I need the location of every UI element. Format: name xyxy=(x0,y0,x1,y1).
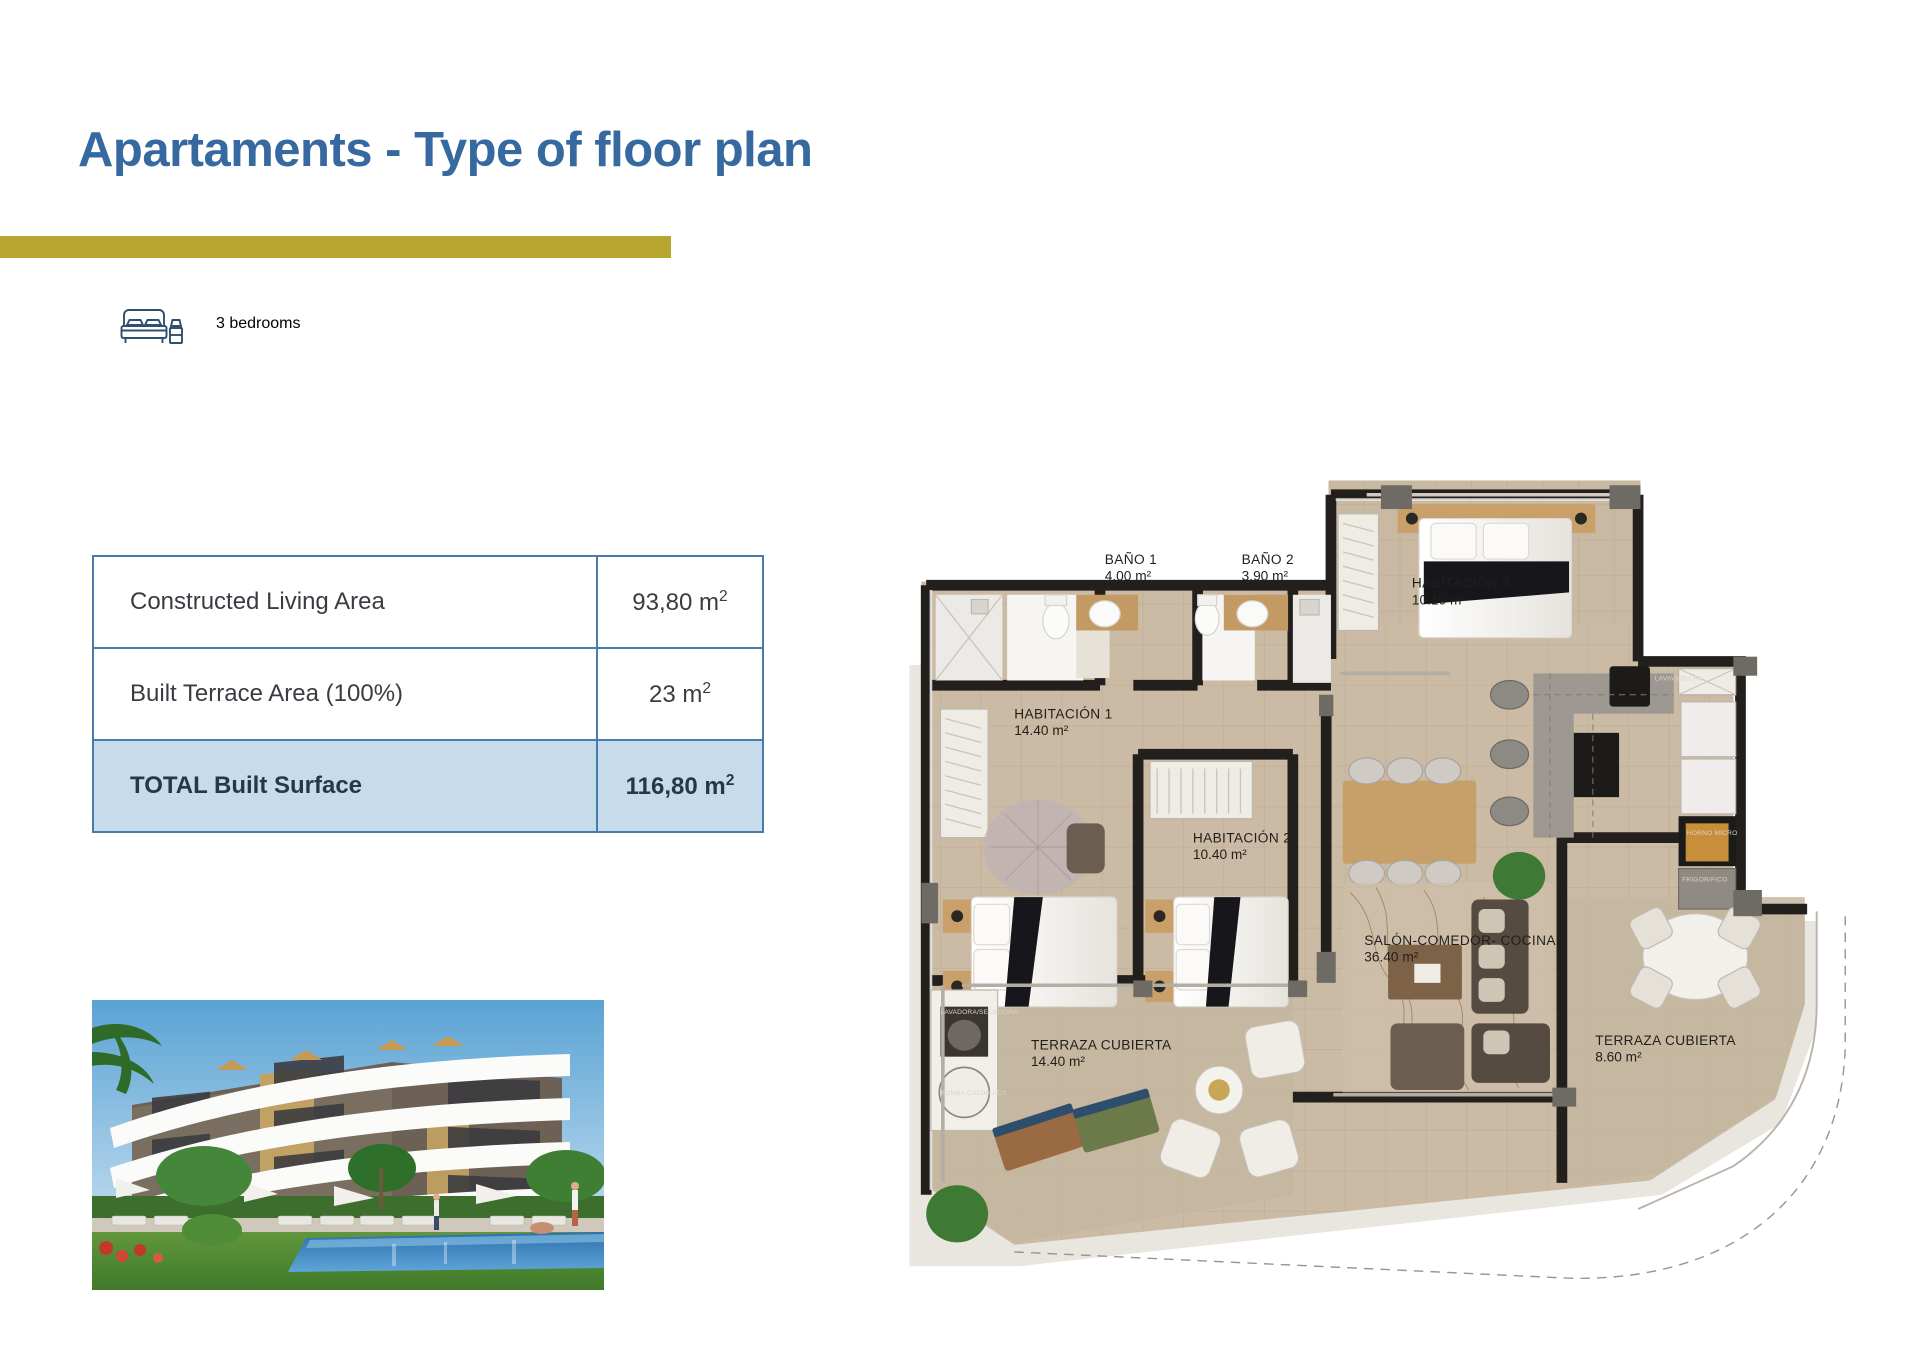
appliance-label-bomba-calor-acs: BOMBA CALOR ACS xyxy=(940,1090,1006,1097)
room-label-salon: SALÓN-COMEDOR- COCINA xyxy=(1364,933,1556,948)
page-title: Apartaments - Type of floor plan xyxy=(78,122,812,178)
appliance-label-lavavajillas: LAVAVAJILLAS xyxy=(1655,675,1703,682)
room-area-salon: 36.40 m² xyxy=(1364,949,1418,964)
room-label-bano-1: BAÑO 1 xyxy=(1105,552,1157,567)
accent-bar xyxy=(0,236,671,258)
row-label: Built Terrace Area (100%) xyxy=(93,648,597,740)
room-area-bano-1: 4.00 m² xyxy=(1105,568,1152,583)
room-area-bano-2: 3.90 m² xyxy=(1242,568,1289,583)
row-value: 23 m2 xyxy=(597,648,763,740)
bedrooms-label: 3 bedrooms xyxy=(216,315,301,333)
room-label-terraza-2: TERRAZA CUBIERTA xyxy=(1595,1033,1736,1048)
room-area-habitacion-2: 10.40 m² xyxy=(1193,847,1247,862)
row-label: TOTAL Built Surface xyxy=(93,740,597,832)
bed-icon xyxy=(118,300,190,348)
row-label: Constructed Living Area xyxy=(93,556,597,648)
room-area-terraza-1: 14.40 m² xyxy=(1031,1054,1085,1069)
table-row: Constructed Living Area 93,80 m2 xyxy=(93,556,763,648)
terrace-right-furniture xyxy=(1628,905,1763,1011)
room-label-habitacion-3: HABITACIÓN 3 xyxy=(1412,576,1510,591)
room-label-habitacion-2: HABITACIÓN 2 xyxy=(1193,830,1291,845)
living-room xyxy=(1343,852,1553,1092)
floor-plan: BAÑO 1 4.00 m² BAÑO 2 3.90 m² HABITACIÓN… xyxy=(900,290,1900,1290)
room-label-terraza-1: TERRAZA CUBIERTA xyxy=(1031,1038,1172,1053)
bedroom-3-furniture xyxy=(1338,504,1595,637)
table-row: Built Terrace Area (100%) 23 m2 xyxy=(93,648,763,740)
table-row-total: TOTAL Built Surface 116,80 m2 xyxy=(93,740,763,832)
appliance-label-frigorifico: FRIGORIFICO xyxy=(1682,877,1727,884)
row-value: 93,80 m2 xyxy=(597,556,763,648)
room-label-bano-2: BAÑO 2 xyxy=(1242,552,1294,567)
row-value: 116,80 m2 xyxy=(597,740,763,832)
room-label-habitacion-1: HABITACIÓN 1 xyxy=(1014,707,1112,722)
bedrooms-summary: 3 bedrooms xyxy=(118,300,301,348)
dining-area xyxy=(1343,758,1476,887)
room-area-habitacion-3: 10.10 m² xyxy=(1412,592,1466,607)
bathroom-1-fixtures xyxy=(936,595,1138,681)
appliance-label-horno-micro: HORNO MICRO xyxy=(1687,830,1738,837)
room-area-terraza-2: 8.60 m² xyxy=(1595,1049,1642,1064)
building-render-image xyxy=(92,1000,604,1290)
area-summary-table: Constructed Living Area 93,80 m2 Built T… xyxy=(92,555,764,833)
room-area-habitacion-1: 14.40 m² xyxy=(1014,723,1068,738)
appliance-label-lavadora-secadora: LAVADORA/SECADORA xyxy=(940,1009,1018,1016)
